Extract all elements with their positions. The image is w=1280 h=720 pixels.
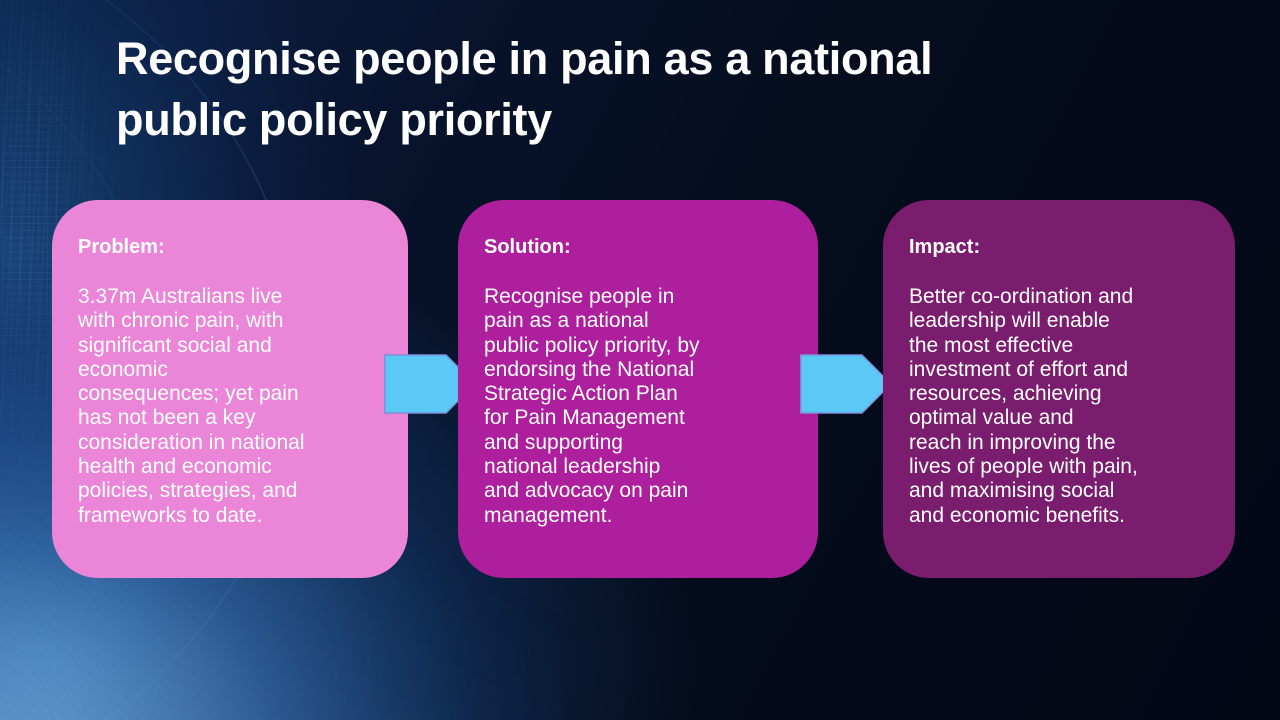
card-solution-heading: Solution: (484, 235, 792, 259)
right-arrow-icon (800, 354, 892, 414)
slide-canvas: Recognise people in pain as a national p… (0, 0, 1280, 720)
card-problem: Problem: 3.37m Australians live with chr… (52, 200, 408, 578)
card-impact-body: Better co-ordination and leadership will… (909, 285, 1209, 528)
card-problem-body: 3.37m Australians live with chronic pain… (78, 285, 382, 528)
slide-title: Recognise people in pain as a national p… (116, 28, 1206, 150)
card-impact: Impact: Better co-ordination and leaders… (883, 200, 1235, 578)
card-problem-heading: Problem: (78, 235, 382, 259)
card-impact-heading: Impact: (909, 235, 1209, 259)
card-solution: Solution: Recognise people in pain as a … (458, 200, 818, 578)
card-solution-body: Recognise people in pain as a national p… (484, 285, 792, 528)
